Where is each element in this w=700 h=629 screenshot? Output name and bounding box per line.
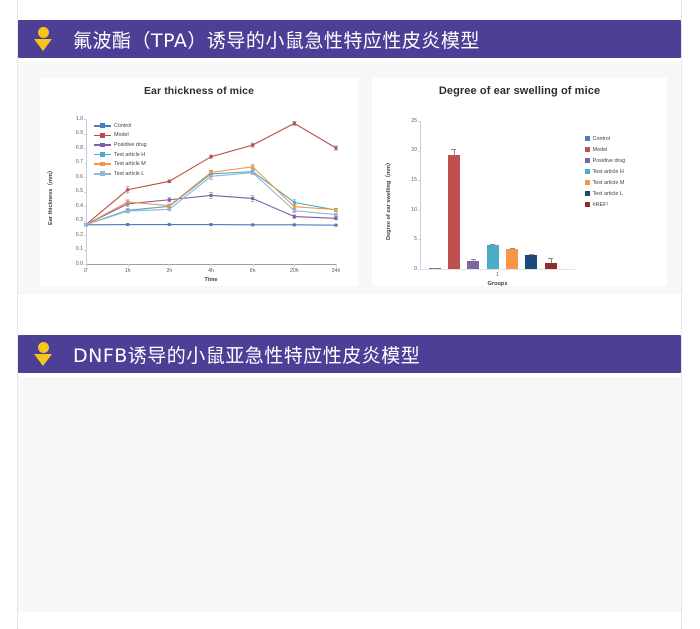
data-point	[335, 208, 338, 211]
legend-line-marker	[94, 173, 111, 175]
data-point	[210, 223, 213, 226]
section-dnfb: DNFB诱导的小鼠亚急性特应性皮炎模型 Ear thickness of mic…	[0, 312, 700, 629]
legend-item-posidive-drug: Posidive drug	[94, 140, 147, 150]
legend-item-test-article-l: Test article L	[94, 169, 147, 179]
legend-square-marker	[585, 169, 590, 174]
plot-area-tpa-bar: 05101520251GroupsDegree of ear swelling（…	[372, 97, 667, 305]
data-point	[168, 180, 171, 183]
legend-item-test-article-m: Test article M	[94, 159, 147, 169]
legend-square-marker	[585, 180, 590, 185]
data-point	[168, 223, 171, 226]
data-point	[293, 122, 296, 125]
content-panel-dnfb	[18, 377, 681, 612]
data-point	[126, 210, 129, 213]
x-axis-line	[420, 269, 575, 270]
legend-label: Posidive drug	[593, 158, 626, 164]
data-point	[293, 209, 296, 212]
error-bar-cap	[510, 248, 515, 249]
legend-label: Posidive drug	[114, 142, 147, 148]
data-point	[251, 171, 254, 174]
data-point	[126, 223, 129, 226]
data-point	[335, 147, 338, 150]
legend-label: Test article M	[593, 180, 625, 186]
legend-square-marker	[585, 202, 590, 207]
legend-label: Test article H	[593, 169, 624, 175]
legend-label: Control	[593, 136, 610, 142]
legend-line-marker	[94, 125, 111, 127]
legend-label: #REF!	[593, 202, 608, 208]
data-point	[126, 188, 129, 191]
data-point	[251, 197, 254, 200]
page-root: 氟波酯（TPA）诱导的小鼠急性特应性皮炎模型 Ear thickness of …	[0, 0, 700, 629]
legend-label: Test article H	[114, 152, 145, 158]
legend-label: Test article L	[593, 191, 623, 197]
y-tickmark	[418, 121, 421, 122]
section-tpa: 氟波酯（TPA）诱导的小鼠急性特应性皮炎模型 Ear thickness of …	[0, 0, 700, 310]
section-header-tpa: 氟波酯（TPA）诱导的小鼠急性特应性皮炎模型	[18, 20, 681, 58]
data-point	[85, 223, 88, 226]
error-bar-cap	[490, 244, 495, 245]
legend-item-model: Model	[585, 144, 625, 155]
y-tickmark	[418, 210, 421, 211]
error-bar-cap	[548, 258, 553, 259]
data-point	[293, 223, 296, 226]
data-point	[335, 213, 338, 216]
legend-square-marker	[585, 158, 590, 163]
y-tickmark	[418, 151, 421, 152]
legend-item-control: Control	[585, 133, 625, 144]
bar-test-article-m	[506, 249, 518, 269]
error-bar-cap	[471, 259, 476, 260]
y-tick-label: 15	[398, 177, 417, 183]
data-point	[126, 200, 129, 203]
y-tickmark	[418, 239, 421, 240]
legend-item-control: Control	[94, 121, 147, 131]
data-point	[251, 144, 254, 147]
chart-title-tpa-line: Ear thickness of mice	[40, 78, 358, 97]
legend-item-test-article-l: Test article L	[585, 188, 625, 199]
section-header-dnfb: DNFB诱导的小鼠亚急性特应性皮炎模型	[18, 335, 681, 373]
data-point	[335, 217, 338, 220]
section-title-tpa: 氟波酯（TPA）诱导的小鼠急性特应性皮炎模型	[73, 26, 480, 53]
chart-legend: ControlModelPosidive drugTest article HT…	[585, 133, 625, 210]
bar--ref-	[545, 263, 557, 269]
line-posidive-drug	[86, 195, 336, 224]
chart-card-tpa-bar: Degree of ear swelling of mice 051015202…	[372, 78, 667, 286]
bar-model	[448, 155, 460, 269]
legend-label: Model	[593, 147, 608, 153]
chart-card-tpa-line: Ear thickness of mice 0.00.10.20.30.40.5…	[40, 78, 358, 286]
legend-item-model: Model	[94, 131, 147, 141]
y-tick-label: 25	[398, 118, 417, 124]
data-point	[293, 205, 296, 208]
bar-test-article-l	[525, 255, 537, 269]
data-point	[293, 215, 296, 218]
y-tick-label: 5	[398, 236, 417, 242]
y-tick-label: 20	[398, 147, 417, 153]
x-axis-title: Groups	[478, 281, 518, 287]
data-point	[251, 165, 254, 168]
bar-posidive-drug	[467, 261, 479, 269]
data-point	[168, 208, 171, 211]
y-axis-line	[420, 121, 421, 269]
line-series-layer	[40, 97, 358, 305]
chart-title-tpa-bar: Degree of ear swelling of mice	[372, 78, 667, 97]
data-point	[168, 204, 171, 207]
data-point	[168, 198, 171, 201]
legend-item--ref-: #REF!	[585, 199, 625, 210]
data-point	[293, 201, 296, 204]
chart-legend: ControlModelPosidive drugTest article HT…	[94, 121, 147, 179]
legend-label: Control	[114, 123, 131, 129]
legend-item-test-article-m: Test article M	[585, 177, 625, 188]
person-chevron-icon	[27, 22, 61, 56]
legend-square-marker	[585, 147, 590, 152]
error-bar-cap	[451, 149, 456, 150]
legend-line-marker	[94, 135, 111, 137]
data-point	[251, 223, 254, 226]
error-bar-cap	[529, 254, 534, 255]
y-axis-title: Degree of ear swelling（mm）	[384, 159, 392, 240]
y-tick-label: 10	[398, 207, 417, 213]
data-point	[335, 224, 338, 227]
legend-label: Test article L	[114, 171, 144, 177]
legend-line-marker	[94, 154, 111, 156]
y-tick-label: 0	[398, 266, 417, 272]
person-chevron-icon	[27, 337, 61, 371]
y-tickmark	[418, 269, 421, 270]
section-title-dnfb: DNFB诱导的小鼠亚急性特应性皮炎模型	[73, 341, 420, 368]
legend-label: Test article M	[114, 161, 146, 167]
data-point	[210, 155, 213, 158]
bar-test-article-h	[487, 245, 499, 269]
legend-item-test-article-h: Test article H	[94, 150, 147, 160]
legend-item-test-article-h: Test article H	[585, 166, 625, 177]
plot-area-tpa-line: 0.00.10.20.30.40.50.60.70.80.91.00'1h2h4…	[40, 97, 358, 305]
legend-item-posidive-drug: Posidive drug	[585, 155, 625, 166]
x-tick-label: 1	[488, 272, 508, 278]
error-bar-cap	[432, 268, 437, 269]
legend-square-marker	[585, 191, 590, 196]
y-tickmark	[418, 180, 421, 181]
data-point	[210, 194, 213, 197]
data-point	[210, 175, 213, 178]
legend-line-marker	[94, 163, 111, 165]
legend-line-marker	[94, 144, 111, 146]
legend-square-marker	[585, 136, 590, 141]
legend-label: Model	[114, 132, 129, 138]
